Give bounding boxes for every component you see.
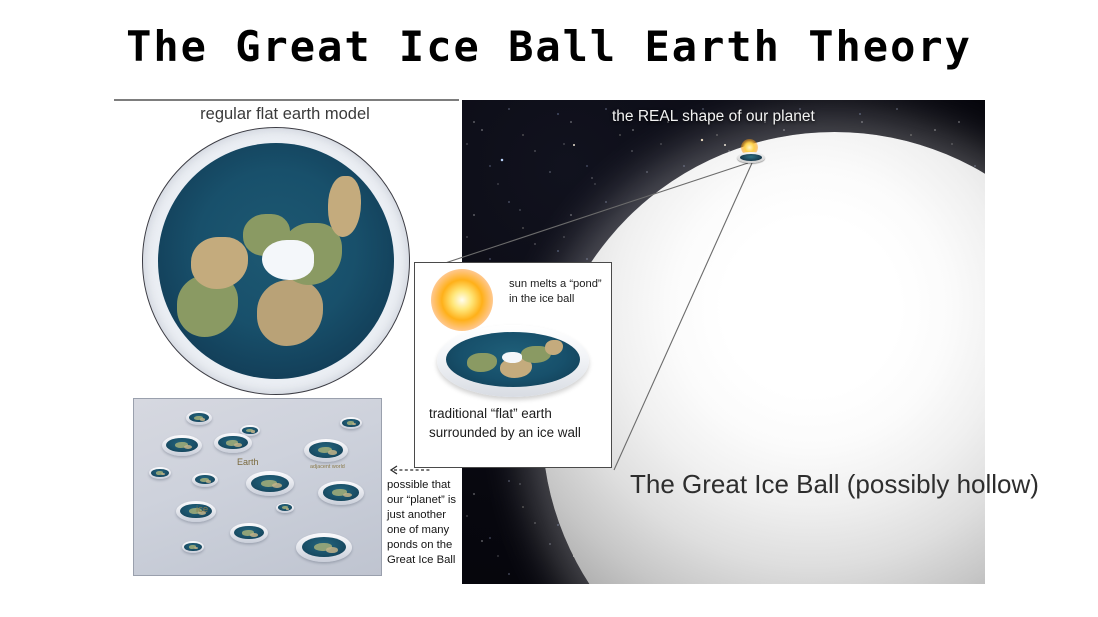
page-title: The Great Ice Ball Earth Theory [0,22,1098,71]
traditional-flat-earth-caption: traditional “flat” earth surrounded by a… [429,405,581,442]
pond-water-8 [251,475,288,492]
sun-glow-icon-inset [431,269,493,331]
bowl-landmass-australia [545,340,562,355]
pond-11 [276,503,294,513]
pond-label-earth: Earth [237,457,259,467]
pond-water-12 [234,526,264,540]
flat-earth-model-label: regular flat earth model [120,105,450,124]
many-ponds-panel: Earth ice adjacent world [133,398,382,576]
pond-label-ice: ice [196,504,208,515]
bowl-arctic-cap [502,352,522,363]
bowl-landmass-west [467,353,496,372]
bowl-water [446,332,580,387]
pond-water-14 [302,537,346,557]
flat-earth-ocean [158,143,394,379]
pond-4 [214,433,252,453]
slide-canvas: The Great Ice Ball Earth Theory regular … [0,0,1098,617]
pond-14 [296,533,352,562]
real-shape-label: the REAL shape of our planet [612,108,815,126]
pond-water-3 [166,438,197,452]
pond-2 [340,417,362,429]
pond-water [740,154,762,161]
pond-water-6 [151,469,168,477]
sun-melts-pond-inset-panel: sun melts a “pond” in the ice ball tradi… [414,262,612,468]
pond-water-11 [278,504,292,511]
pond-water-0 [189,413,209,423]
pond-9 [318,481,364,505]
pond-water-7 [195,475,215,485]
pond-0 [186,411,212,425]
pond-water-1 [242,427,258,435]
pond-5 [304,439,348,462]
flat-earth-pond-icon [737,152,765,163]
pond-6 [149,467,171,479]
sun-melts-pond-note: sun melts a “pond” in the ice ball [509,277,602,307]
flat-earth-disc-diagram [142,127,410,395]
pond-label-adjacent-world: adjacent world [310,464,345,470]
pond-3 [162,435,202,456]
ponds-explanation-note: possible that our “planet” is just anoth… [387,478,463,568]
landmass-north-america [191,237,248,289]
pond-8 [246,471,294,496]
flat-earth-bowl-icon [437,325,589,397]
landmass-africa [257,280,323,346]
title-divider [114,99,459,101]
landmass-australia [328,176,361,237]
great-ice-ball-caption: The Great Ice Ball (possibly hollow) [630,468,1039,501]
arctic-ice-cap [262,240,314,280]
pond-water-9 [323,484,359,500]
pond-water-2 [342,419,359,427]
pond-7 [192,473,218,487]
pond-12 [230,523,268,543]
dashed-left-arrow-icon [386,464,432,476]
pond-13 [182,541,204,553]
pond-water-5 [309,442,343,458]
pond-water-13 [184,543,201,551]
pond-water-4 [218,436,248,450]
